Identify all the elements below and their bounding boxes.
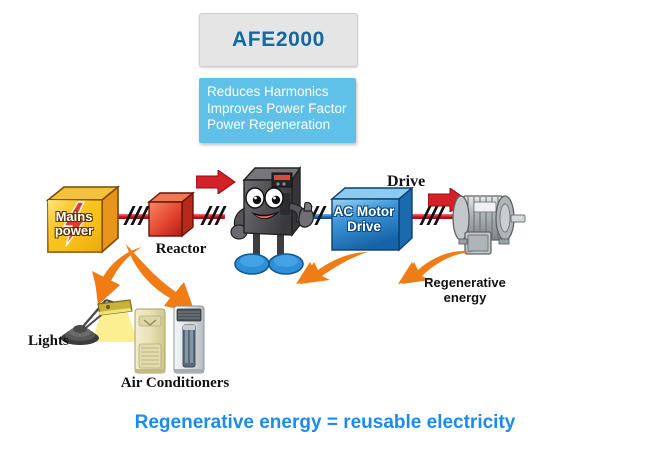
- air-conditioner-icon-1: [133, 308, 167, 379]
- afe2000-title-text: AFE2000: [232, 28, 325, 52]
- diagram-canvas: AFE2000 Reduces Harmonics Improves Power…: [0, 0, 650, 454]
- feature-list-panel: Reduces Harmonics Improves Power Factor …: [199, 78, 356, 143]
- curved-arrow-left-icon-regen-2: [292, 252, 372, 299]
- feature-line-2: Improves Power Factor: [207, 101, 356, 118]
- diagram-caption: Regenerative energy = reusable electrici…: [0, 412, 650, 434]
- feature-line-1: Reduces Harmonics: [207, 84, 356, 101]
- feature-line-3: Power Regeneration: [207, 117, 356, 134]
- afe2000-title-plate: AFE2000: [199, 13, 358, 67]
- regenerative-energy-label-line1: Regenerative: [405, 275, 525, 290]
- lights-label: Lights: [28, 333, 69, 350]
- air-conditioner-icon-2: [172, 305, 206, 379]
- drive-label: Drive: [387, 173, 425, 191]
- reactor-box: [146, 191, 196, 239]
- regenerative-energy-label-line2: energy: [405, 290, 525, 305]
- ac-motor-drive-box: [330, 186, 414, 256]
- air-conditioners-label: Air Conditioners: [105, 375, 245, 392]
- regenerative-energy-label: Regenerative energy: [405, 275, 525, 305]
